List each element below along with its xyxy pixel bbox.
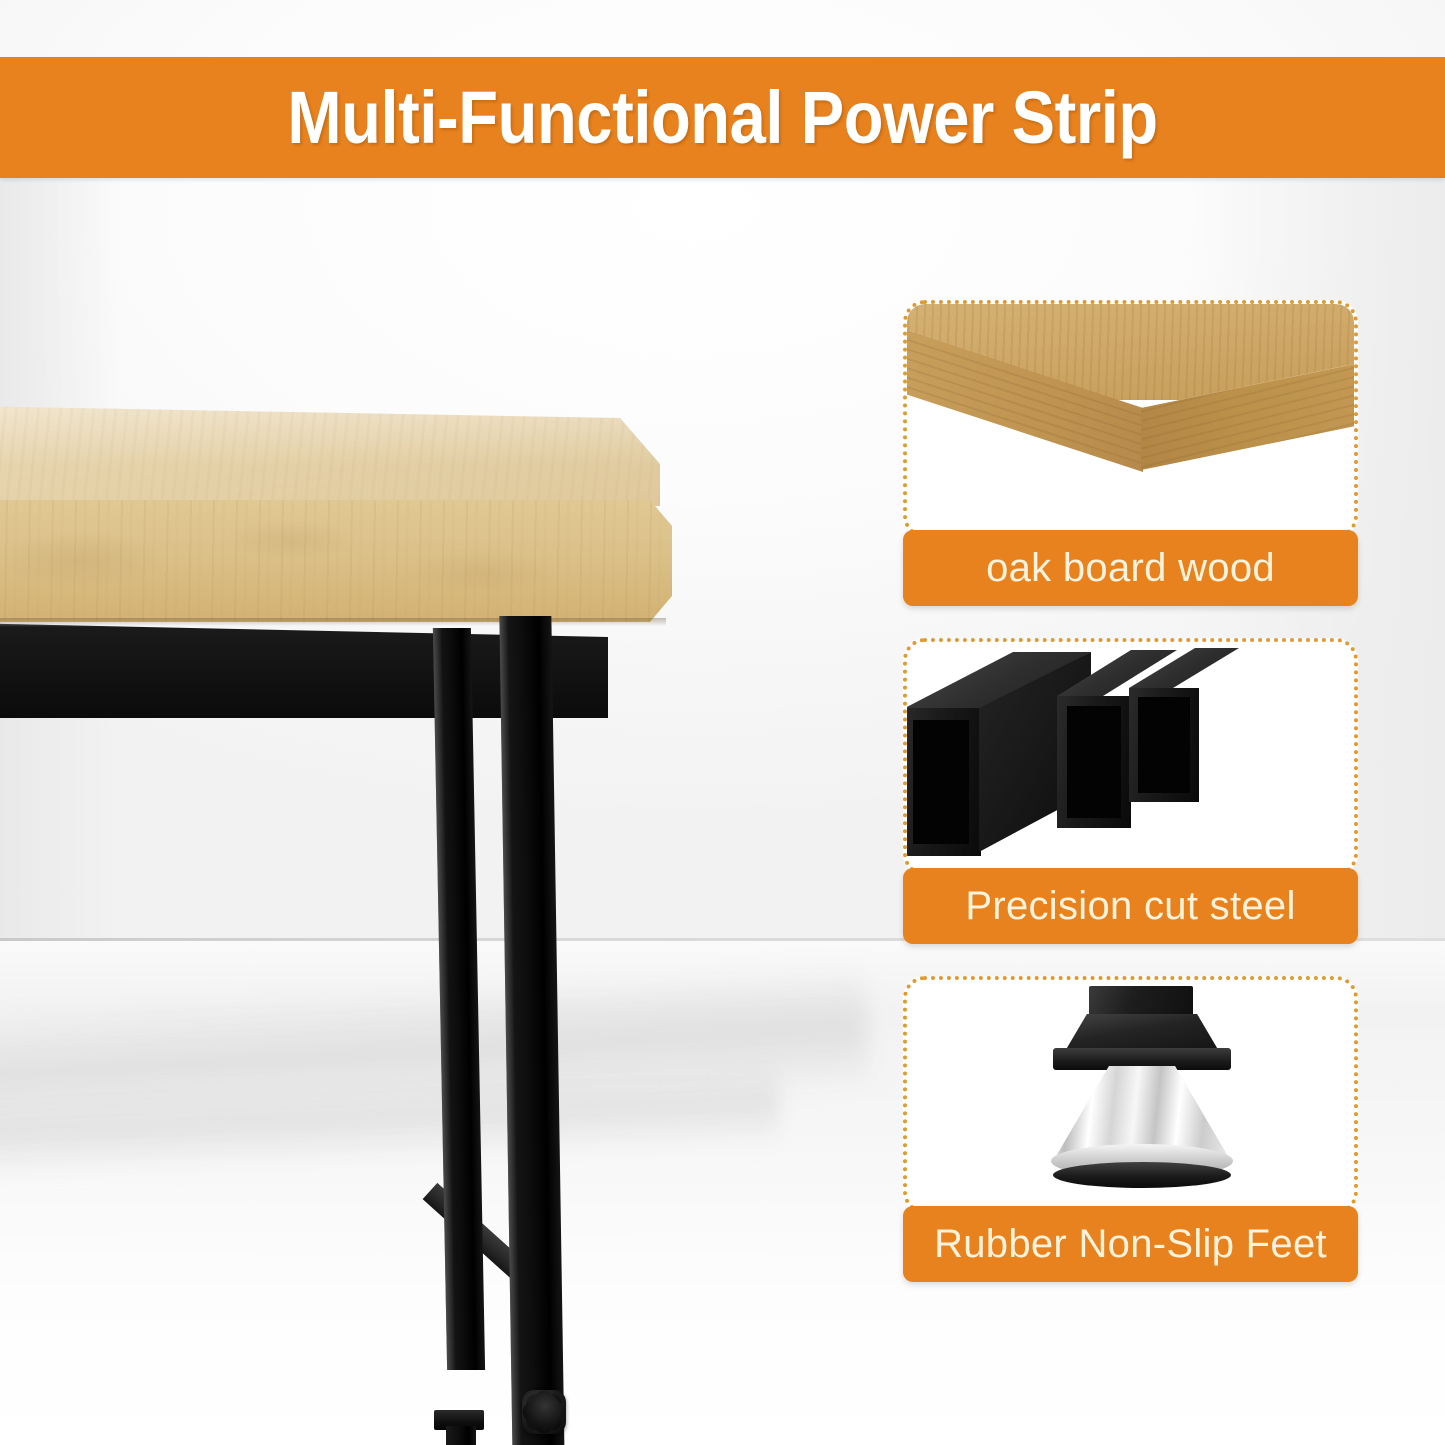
feature-card-rubber-non-slip-feet: Rubber Non-Slip Feet xyxy=(903,976,1358,1282)
feature-card-oak-board-wood: oak board wood xyxy=(903,300,1358,606)
leveling-foot-photo xyxy=(907,980,1354,1210)
feature-label-text: oak board wood xyxy=(986,546,1275,591)
product-feature-image: Multi-Functional Power Strip xyxy=(0,0,1445,1445)
feature-photo-frame xyxy=(903,976,1358,1214)
worktop-front-edge xyxy=(0,500,672,622)
feature-label-precision-cut-steel: Precision cut steel xyxy=(903,868,1358,944)
tube-1-bore xyxy=(913,720,969,844)
square-steel-tubes-photo xyxy=(907,642,1354,872)
workbench-product-photo xyxy=(0,390,750,1370)
feature-photo-frame xyxy=(903,300,1358,538)
feature-label-oak-board-wood: oak board wood xyxy=(903,530,1358,606)
leveling-foot-assembly xyxy=(1037,986,1247,1206)
front-leg-highlight xyxy=(499,616,521,1445)
rear-leg xyxy=(433,628,485,1370)
rear-leg-highlight xyxy=(433,628,456,1370)
front-leg xyxy=(499,616,564,1445)
wood-slab-corner xyxy=(907,304,1354,534)
height-adjust-knob-upper[interactable] xyxy=(522,1390,566,1434)
feature-label-text: Rubber Non-Slip Feet xyxy=(934,1222,1327,1267)
feature-label-text: Precision cut steel xyxy=(965,884,1295,929)
steel-tube-group xyxy=(907,646,1317,872)
header-banner: Multi-Functional Power Strip xyxy=(0,57,1445,178)
oak-board-corner-photo xyxy=(907,304,1354,534)
worktop-surface xyxy=(0,406,660,506)
tube-3-bore xyxy=(1138,697,1190,793)
feature-callout-list: oak board wood xyxy=(903,300,1358,1314)
worktop-underside-shadow xyxy=(0,618,666,626)
feature-card-precision-cut-steel: Precision cut steel xyxy=(903,638,1358,944)
feature-photo-frame xyxy=(903,638,1358,876)
tube-2-bore xyxy=(1067,706,1121,818)
rear-leg-lower-section xyxy=(446,1426,476,1445)
page-title: Multi-Functional Power Strip xyxy=(287,75,1157,160)
feature-label-rubber-non-slip-feet: Rubber Non-Slip Feet xyxy=(903,1206,1358,1282)
foot-rubber-pad xyxy=(1053,1162,1231,1188)
